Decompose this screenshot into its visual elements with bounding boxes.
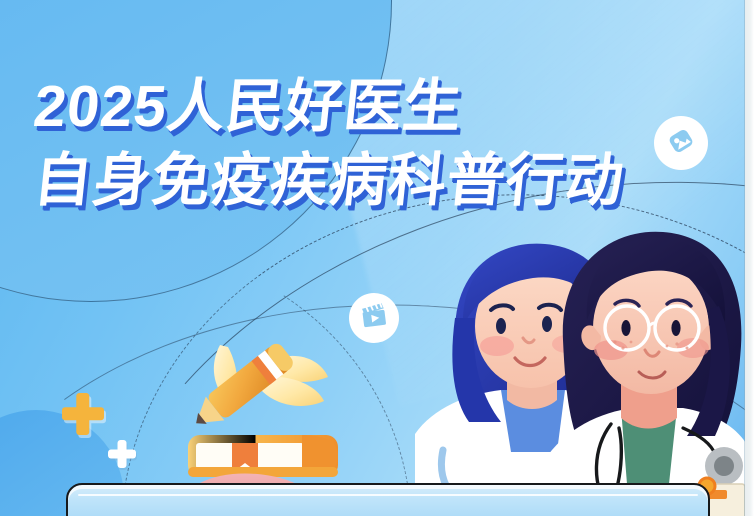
doctors-illustration [415,222,754,516]
doctor-left-eye-right [542,316,552,332]
title-line-1: 2025人民好医生 [31,78,627,136]
doctor-right-eye-left [621,320,630,336]
image-icon [665,125,697,162]
doctor-right-stethoscope-chestpiece-inner [714,456,734,476]
title-line-2: 自身免疫疾病科普行动 [31,152,627,210]
plus-icon-gold: + [62,393,104,435]
bottom-content-panel[interactable] [66,483,710,516]
video-badge[interactable]: 视频 [349,293,399,343]
right-edge-strip [745,0,754,516]
plus-gold-label: + [62,393,63,394]
plus-white-label: + [108,440,109,441]
doctor-right-eye-right [671,320,680,336]
video-clapperboard-icon [359,301,389,336]
image-badge[interactable]: 图片 [654,116,708,170]
poster-title-block: 2025人民好医生 自身免疫疾病科普行动 [34,78,624,210]
doctor-left-eye-left [496,318,506,334]
poster-banner: + + [0,0,754,516]
bottom-panel-highlight [78,494,698,496]
open-book [188,435,338,477]
plus-icon-white: + [108,440,136,468]
doctor-left-blush-left [480,336,514,356]
